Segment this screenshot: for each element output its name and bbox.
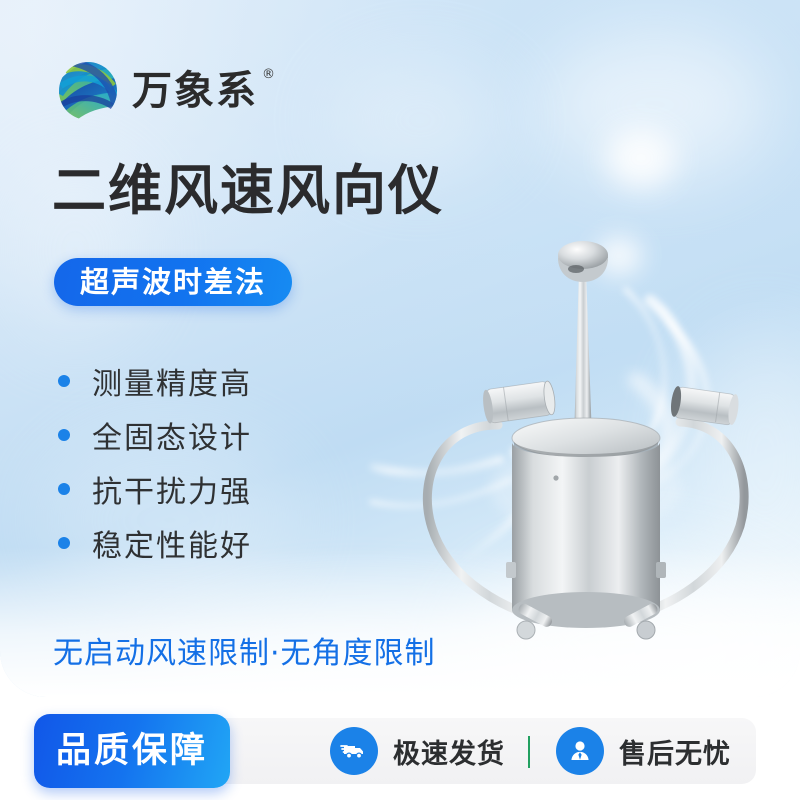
- cloud-blob: [606, 128, 676, 188]
- technology-badge: 超声波时差法: [54, 258, 292, 306]
- quality-assurance-badge: 品质保障: [34, 714, 230, 788]
- feature-label: 抗干扰力强: [92, 467, 252, 511]
- delivery-truck-icon: [330, 727, 378, 775]
- trust-item-label: 极速发货: [393, 732, 505, 771]
- page-title: 二维风速风向仪: [52, 160, 444, 223]
- blue-dot-icon: [58, 375, 70, 387]
- list-item: 全固态设计: [58, 408, 252, 462]
- brand-name: 万象系 ®: [132, 71, 258, 111]
- feature-label: 测量精度高: [92, 359, 252, 403]
- blue-dot-icon: [58, 429, 70, 441]
- trust-item-label: 售后无忧: [619, 732, 731, 771]
- tagline: 无启动风速限制·无角度限制: [53, 628, 436, 672]
- top-transducer: [558, 241, 608, 282]
- anemometer-product-image: [380, 210, 780, 660]
- vertical-divider: [528, 736, 530, 768]
- product-poster: 万象系 ® 二维风速风向仪 超声波时差法 测量精度高 全固态设计 抗干扰力强 稳…: [0, 0, 800, 800]
- feature-label: 全固态设计: [92, 413, 252, 457]
- brand-name-text: 万象系: [132, 68, 258, 114]
- brand-logo: 万象系 ®: [57, 60, 258, 122]
- registered-trademark-icon: ®: [262, 68, 277, 81]
- feature-list: 测量精度高 全固态设计 抗干扰力强 稳定性能好: [58, 354, 252, 570]
- trust-item-support: 售后无忧: [556, 727, 731, 775]
- center-mast: [574, 270, 592, 440]
- trust-item-shipping: 极速发货: [330, 727, 505, 775]
- side-lug: [506, 562, 516, 578]
- blue-dot-icon: [58, 483, 70, 495]
- side-lug: [656, 562, 666, 578]
- list-item: 稳定性能好: [58, 516, 252, 570]
- blue-dot-icon: [58, 537, 70, 549]
- feature-label: 稳定性能好: [92, 521, 252, 565]
- cloud-blob: [540, 30, 770, 180]
- list-item: 抗干扰力强: [58, 462, 252, 516]
- left-transducer: [481, 380, 556, 424]
- list-item: 测量精度高: [58, 354, 252, 408]
- vent-hole: [553, 475, 558, 480]
- customer-support-icon: [556, 727, 604, 775]
- swirl-globe-logo-icon: [57, 60, 119, 122]
- technology-badge-label: 超声波时差法: [80, 268, 266, 297]
- quality-assurance-label: 品质保障: [56, 734, 208, 769]
